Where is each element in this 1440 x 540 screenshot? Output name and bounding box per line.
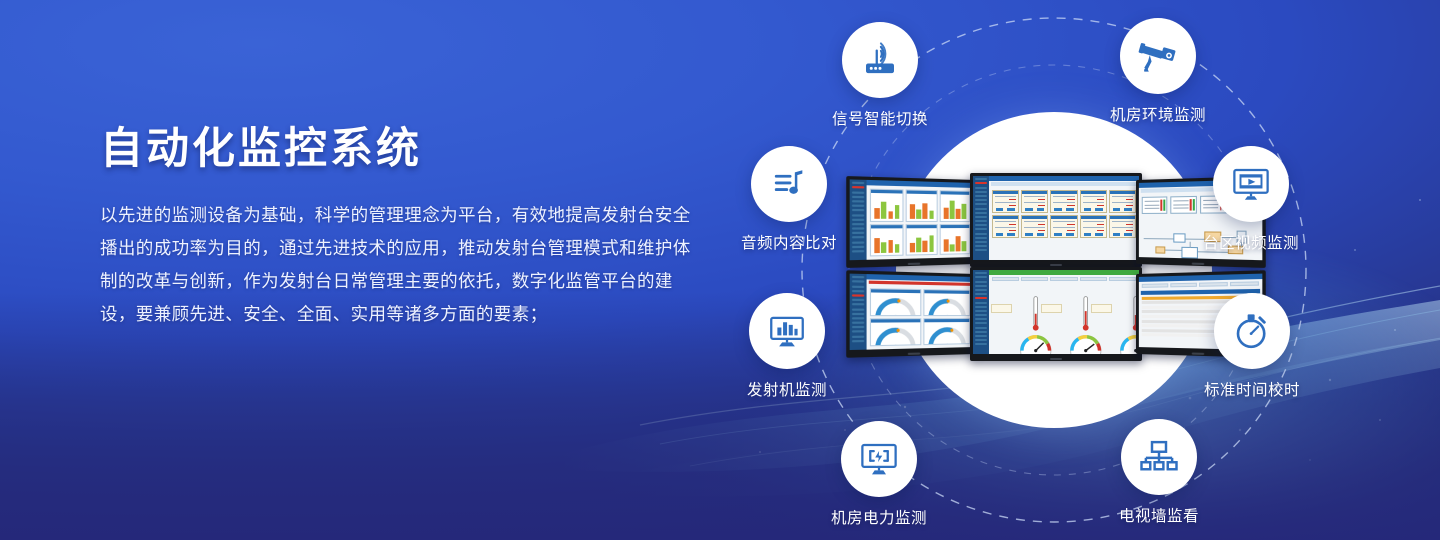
status-card <box>1080 190 1107 213</box>
hero-copy: 自动化监控系统 以先进的监测设备为基础，科学的管理理念为平台，有效地提高发射台安… <box>100 126 700 331</box>
monitor-video-icon <box>1230 163 1272 205</box>
feature-bubble[interactable] <box>751 146 827 222</box>
screen-body <box>989 176 1139 260</box>
feature-node-area-video[interactable]: 台区视频监测 <box>1166 146 1336 253</box>
feature-label: 机房环境监测 <box>1073 103 1243 125</box>
feature-label: 发射机监测 <box>702 378 872 400</box>
chart-card <box>940 224 970 255</box>
feature-bubble[interactable] <box>749 293 825 369</box>
feature-label: 标准时间校时 <box>1167 378 1337 400</box>
hero-description: 以先进的监测设备为基础，科学的管理理念为平台，有效地提高发射台安全播出的成功率为… <box>100 199 700 331</box>
feature-bubble[interactable] <box>1214 293 1290 369</box>
router-wifi-icon <box>859 39 901 81</box>
feature-label: 机房电力监测 <box>794 506 964 528</box>
meter-cell <box>1039 288 1089 354</box>
chart-card <box>906 224 938 256</box>
chart-card <box>906 189 938 221</box>
monitor-barchart-icon <box>766 310 808 352</box>
feature-node-room-environment[interactable]: 机房环境监测 <box>1073 18 1243 125</box>
screen-body <box>867 274 973 350</box>
status-card <box>1021 215 1048 238</box>
filter-row <box>989 275 1139 283</box>
status-card <box>1021 190 1048 213</box>
chart-card <box>870 224 903 257</box>
meter-cell <box>1089 288 1139 354</box>
arc-gauge-card <box>870 288 921 316</box>
feature-label: 音频内容比对 <box>704 231 874 253</box>
meter-row <box>989 283 1139 354</box>
cctv-camera-icon <box>1136 34 1180 78</box>
monitor-battery-bolt-icon <box>858 438 900 480</box>
monitor-screen-dial-meters[interactable] <box>970 267 1142 361</box>
chart-card <box>940 190 970 221</box>
feature-node-transmitter[interactable]: 发射机监测 <box>702 293 872 400</box>
feature-bubble[interactable] <box>1121 419 1197 495</box>
stopwatch-icon <box>1231 310 1273 352</box>
feature-bubble[interactable] <box>841 421 917 497</box>
status-card <box>992 215 1019 238</box>
status-card <box>1109 190 1136 213</box>
feature-node-audio-compare[interactable]: 音频内容比对 <box>704 146 874 253</box>
status-card <box>1050 215 1077 238</box>
org-chart-icon <box>1138 436 1180 478</box>
arc-gauge-card <box>870 318 921 346</box>
feature-node-tv-wall[interactable]: 电视墙监看 <box>1074 419 1244 526</box>
audio-note-icon <box>769 164 809 204</box>
feature-node-time-sync[interactable]: 标准时间校时 <box>1167 293 1337 400</box>
screen-sidebar <box>973 176 989 260</box>
feature-label: 电视墙监看 <box>1074 504 1244 526</box>
status-card <box>1050 190 1077 213</box>
monitor-screen-panel-cards[interactable] <box>970 173 1142 267</box>
feature-label: 信号智能切换 <box>795 107 965 129</box>
status-card <box>992 190 1019 213</box>
feature-node-signal-switch[interactable]: 信号智能切换 <box>795 22 965 129</box>
screen-body <box>989 270 1139 354</box>
arc-gauge-card <box>923 318 970 345</box>
feature-label: 台区视频监测 <box>1166 231 1336 253</box>
arc-gauge-card <box>923 289 970 316</box>
screen-body <box>867 180 973 260</box>
meter-cell <box>989 288 1039 354</box>
feature-bubble[interactable] <box>1213 146 1289 222</box>
feature-node-room-power[interactable]: 机房电力监测 <box>794 421 964 528</box>
feature-bubble[interactable] <box>1120 18 1196 94</box>
screen-sidebar <box>973 270 989 354</box>
status-card <box>1109 215 1136 238</box>
page-title: 自动化监控系统 <box>100 126 700 173</box>
feature-diagram: 信号智能切换 机房环境监测 <box>700 0 1440 540</box>
status-card <box>1080 215 1107 238</box>
chart-card <box>870 189 903 222</box>
feature-bubble[interactable] <box>842 22 918 98</box>
